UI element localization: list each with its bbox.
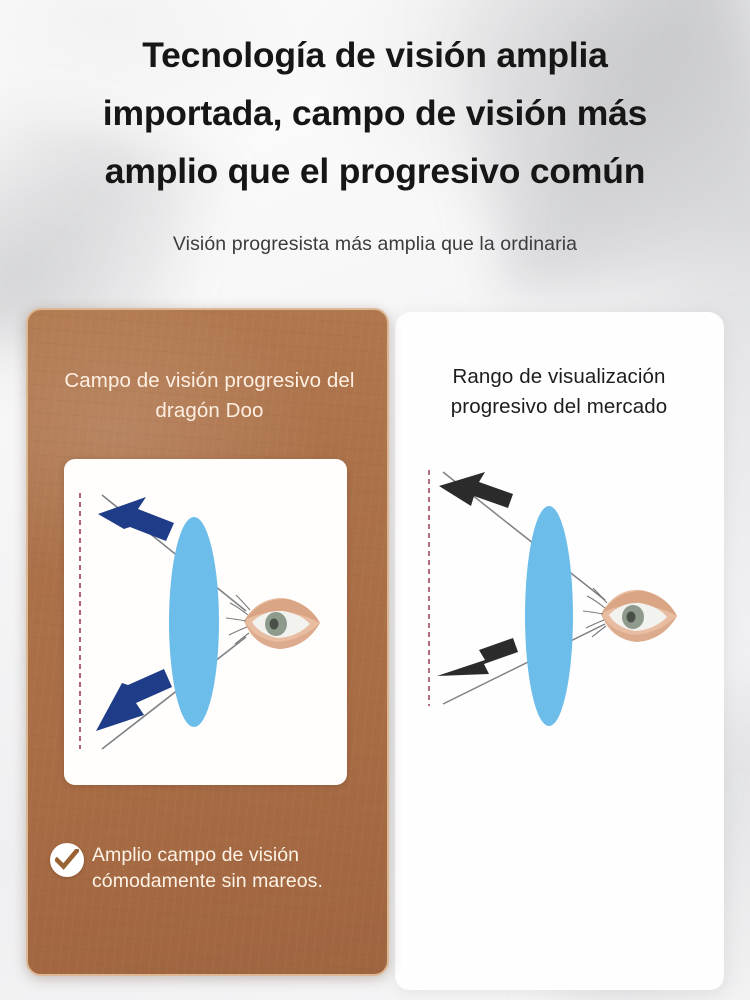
market-comparison-panel: Rango de visualización progresivo del me… [395, 312, 724, 990]
vision-arrow-lower [437, 638, 518, 676]
brand-caption: Amplio campo de visión cómodamente sin m… [50, 842, 380, 894]
brand-caption-line-2: cómodamente sin mareos. [92, 868, 323, 894]
market-panel-title-line-1: Rango de visualización [452, 365, 665, 388]
eye-pupil [270, 619, 279, 630]
comparison-section: Rango de visualización progresivo del me… [0, 0, 750, 1000]
brand-caption-line-1: Amplio campo de visión [92, 842, 323, 868]
vision-arrow-lower [96, 669, 172, 731]
lens-ellipse [169, 517, 219, 727]
market-diagram-svg [409, 448, 709, 786]
brand-panel-title: Campo de visión progresivo del dragón Do… [40, 366, 379, 426]
brand-panel-title-line-1: Campo de visión [64, 369, 218, 392]
market-panel-title: Rango de visualización progresivo del me… [413, 362, 705, 422]
vision-arrow-upper [98, 497, 174, 541]
eye-graphic [583, 588, 677, 642]
eye-pupil [627, 612, 636, 623]
brand-vision-field-diagram-card [64, 459, 347, 785]
market-panel-title-line-2: progresivo del mercado [451, 395, 667, 418]
brand-comparison-panel: Campo de visión progresivo del dragón Do… [26, 308, 389, 976]
sight-line-lower [443, 624, 605, 704]
brand-diagram-svg [64, 459, 347, 785]
lens-ellipse [525, 506, 573, 726]
check-circle-icon [50, 843, 84, 877]
brand-caption-text: Amplio campo de visión cómodamente sin m… [92, 842, 323, 894]
market-vision-field-diagram [409, 448, 709, 786]
